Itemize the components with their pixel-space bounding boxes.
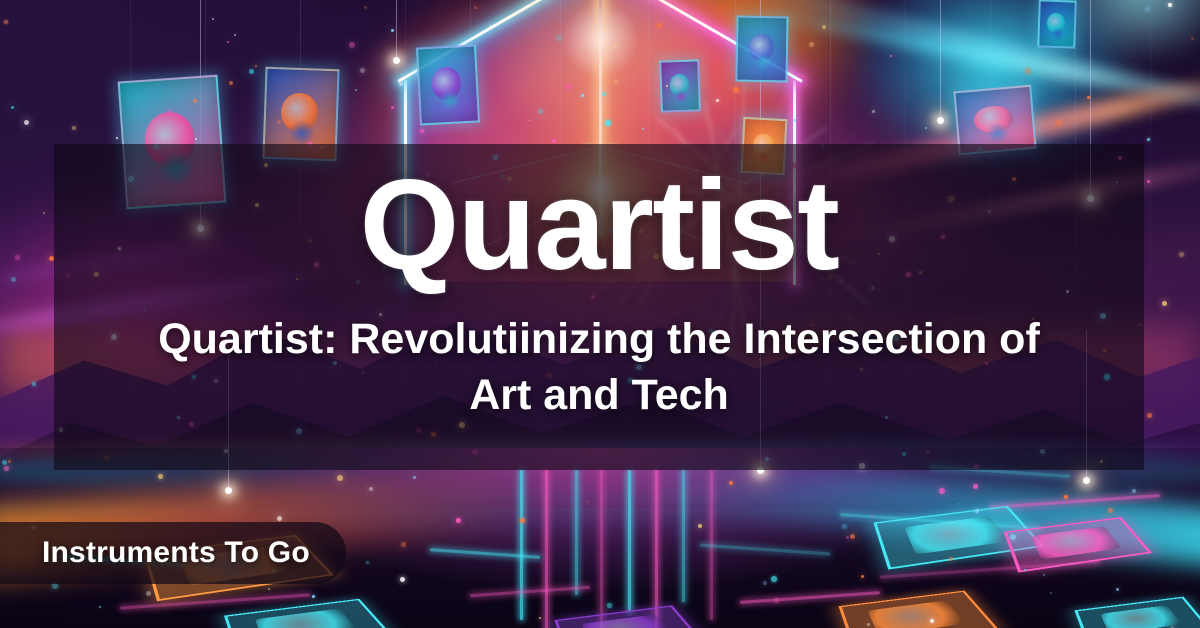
star-spark [234,34,236,36]
artwork-motif [439,89,460,112]
star-spark [364,6,367,9]
star-spark [146,591,151,596]
panel-motif [255,609,358,628]
star-spark [1116,588,1119,591]
circuit-trace [655,470,658,628]
star-spark [249,69,254,74]
panel-motif [868,600,965,628]
hanging-lamp-icon [940,0,941,120]
star-spark [72,126,76,130]
star-spark [872,110,875,113]
title-overlay-band: Quartist Quartist: Revolutiinizing the I… [54,144,1144,470]
star-spark [399,82,403,86]
star-spark [43,212,45,214]
circuit-trace [628,470,631,612]
star-spark [1108,508,1113,513]
star-spark [552,139,556,143]
star-spark [613,43,617,47]
star-spark [774,598,779,603]
star-spark [391,106,394,109]
star-spark [229,81,233,85]
star-spark [158,474,163,479]
star-spark [1179,252,1184,257]
star-spark [349,42,355,48]
star-spark [337,475,343,481]
star-spark [1147,180,1150,183]
star-spark [733,87,739,93]
star-spark [195,138,197,140]
star-spark [890,55,892,57]
star-spark [1147,413,1152,418]
star-spark [11,106,14,109]
star-spark [607,603,612,608]
star-spark [1043,574,1045,576]
panel-motif [904,516,1009,554]
panel-motif [581,614,670,628]
star-spark [1056,120,1062,126]
star-spark [957,503,959,505]
star-spark [925,127,927,129]
star-spark [366,561,369,564]
page-title: Quartist [360,162,839,290]
star-spark [24,120,29,125]
star-spark [1132,489,1136,493]
star-spark [116,137,118,139]
star-spark [666,85,668,87]
floating-artwork-frame [735,16,788,83]
star-spark [1147,138,1150,141]
star-spark [1064,495,1068,499]
star-spark [975,509,979,513]
floating-artwork-frame [416,44,480,125]
panel-motif [1031,527,1121,560]
star-spark [716,99,719,102]
star-spark [581,94,584,97]
star-spark [413,476,416,479]
star-spark [565,84,571,90]
page-subtitle: Quartist: Revolutiinizing the Intersecti… [129,312,1069,424]
star-spark [586,501,588,503]
star-spark [520,518,525,523]
star-spark [255,65,257,67]
star-spark [556,35,562,41]
brand-badge[interactable]: Instruments To Go [0,522,346,584]
star-spark [1010,534,1016,540]
star-spark [822,25,826,29]
star-spark [1033,138,1035,140]
star-spark [763,581,767,585]
hanging-lamp-icon [396,0,397,60]
panel-motif [1100,605,1182,628]
star-spark [420,129,424,133]
star-spark [1024,569,1026,571]
star-spark [939,488,945,494]
star-spark [771,576,777,582]
artwork-motif [1051,26,1064,40]
star-spark [539,617,541,619]
star-spark [657,23,662,28]
circuit-trace [520,470,523,620]
star-spark [32,382,36,386]
star-spark [474,6,477,9]
star-spark [1168,3,1172,7]
star-spark [167,109,172,114]
star-spark [401,542,406,547]
star-spark [809,42,814,47]
circuit-trace [575,470,578,595]
star-spark [1087,96,1090,99]
circuit-trace [545,470,548,628]
star-spark [99,606,101,608]
star-spark [842,524,847,529]
artwork-motif [754,53,772,72]
star-spark [4,20,8,24]
circuit-trace [682,470,685,602]
star-spark [658,99,662,103]
star-spark [456,518,461,523]
star-spark [867,623,870,626]
promo-banner: Quartist Quartist: Revolutiinizing the I… [0,0,1200,628]
artwork-motif [674,89,687,104]
star-spark [1162,301,1167,306]
background-strand [1150,0,1151,628]
floating-artwork-frame [1037,0,1077,49]
star-spark [793,119,796,122]
star-spark [312,595,315,598]
star-spark [355,89,357,91]
star-spark [227,41,229,43]
circuit-trace [600,470,603,628]
star-spark [212,18,214,20]
